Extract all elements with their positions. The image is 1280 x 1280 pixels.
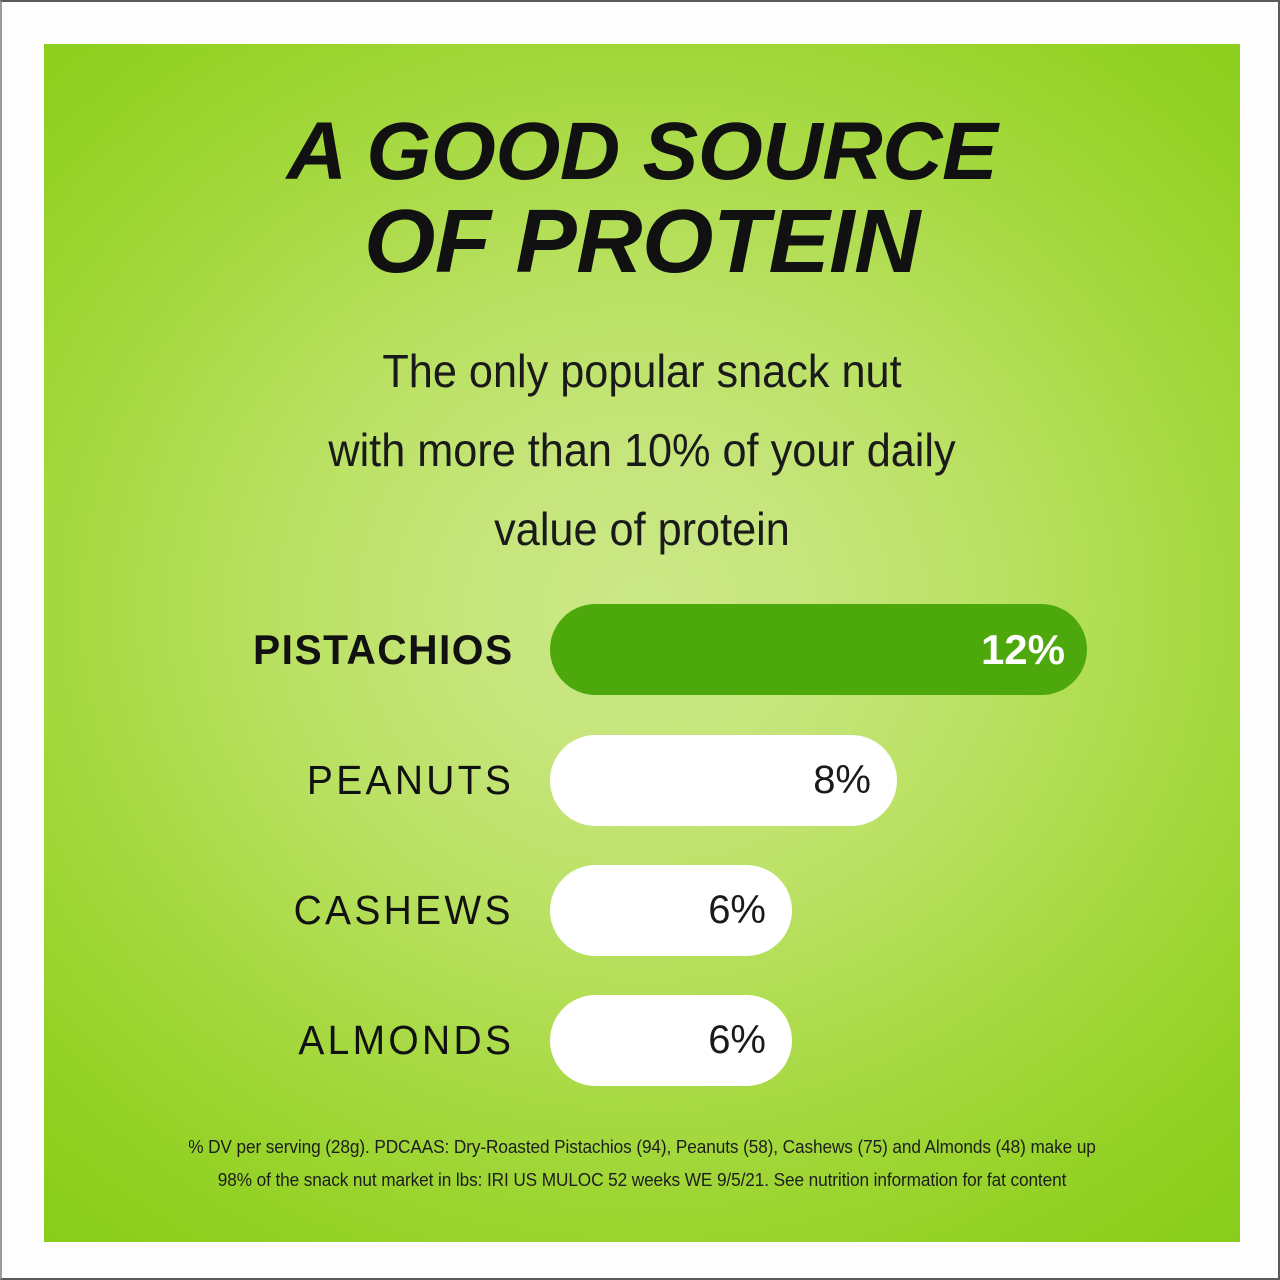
bar-label-almonds: ALMONDS [298, 995, 514, 1086]
footnote-line-1: % DV per serving (28g). PDCAAS: Dry-Roas… [86, 1130, 1198, 1163]
bar-value-peanuts: 8% [813, 735, 871, 826]
bar-track-almonds: 6% [550, 995, 792, 1086]
bar-row: PEANUTS 8% [44, 735, 1240, 826]
headline-line-1: A GOOD SOURCE [44, 110, 1240, 194]
bar-value-cashews: 6% [708, 865, 766, 956]
bar-label-pistachios: PISTACHIOS [253, 604, 514, 695]
headline-line-2: OF PROTEIN [44, 200, 1240, 284]
bar-track-pistachios: 12% [550, 604, 1087, 695]
bar-track-peanuts: 8% [550, 735, 897, 826]
subheading: The only popular snack nut with more tha… [80, 332, 1204, 569]
bar-track-cashews: 6% [550, 865, 792, 956]
bar-row: PISTACHIOS 12% [44, 604, 1240, 695]
protein-bar-chart: PISTACHIOS 12% PEANUTS 8% CASHEWS 6% ALM… [44, 604, 1240, 1134]
subheading-line-1: The only popular snack nut [80, 332, 1204, 411]
page-title: A GOOD SOURCE OF PROTEIN [44, 110, 1240, 284]
footnote-line-2: 98% of the snack nut market in lbs: IRI … [86, 1163, 1198, 1196]
footnote: % DV per serving (28g). PDCAAS: Dry-Roas… [86, 1130, 1198, 1196]
bar-value-almonds: 6% [708, 995, 766, 1086]
subheading-line-2: with more than 10% of your daily [80, 411, 1204, 490]
bar-row: CASHEWS 6% [44, 865, 1240, 956]
bar-row: ALMONDS 6% [44, 995, 1240, 1086]
bar-label-cashews: CASHEWS [294, 865, 514, 956]
bar-value-pistachios: 12% [981, 604, 1065, 695]
poster-frame: A GOOD SOURCE OF PROTEIN The only popula… [0, 0, 1280, 1280]
subheading-line-3: value of protein [80, 490, 1204, 569]
bar-label-peanuts: PEANUTS [307, 735, 514, 826]
poster-panel: A GOOD SOURCE OF PROTEIN The only popula… [44, 44, 1240, 1242]
